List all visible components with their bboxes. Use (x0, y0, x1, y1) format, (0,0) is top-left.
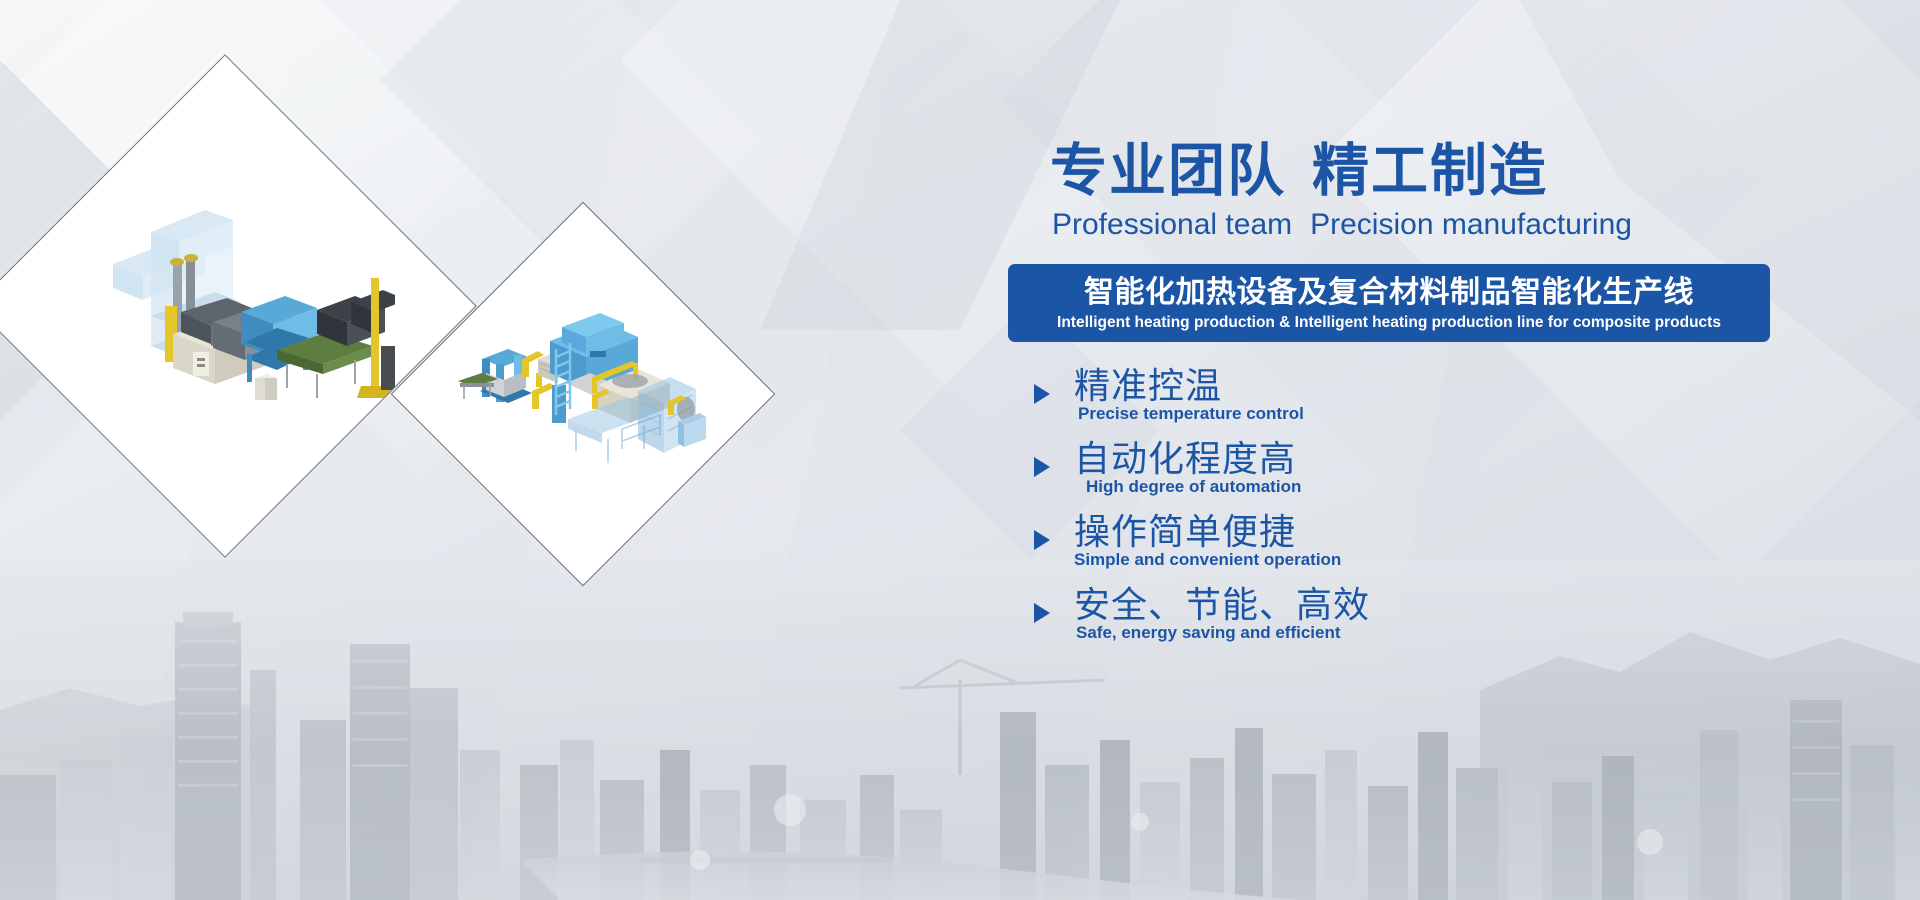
headline-en-part2: Precision manufacturing (1310, 208, 1632, 241)
feature-label-cn: 操作简单便捷 (1074, 511, 1341, 552)
triangle-right-icon (1034, 384, 1050, 404)
list-item: 安全、节能、高效 Safe, energy saving and efficie… (1034, 584, 1674, 657)
triangle-right-icon (1034, 457, 1050, 477)
feature-label-cn: 自动化程度高 (1074, 438, 1301, 479)
feature-label-en: Safe, energy saving and efficient (1076, 624, 1370, 643)
list-item: 自动化程度高 High degree of automation (1034, 438, 1674, 511)
feature-label-cn: 安全、节能、高效 (1074, 584, 1370, 625)
callout-title-cn: 智能化加热设备及复合材料制品智能化生产线 (1008, 274, 1770, 312)
triangle-right-icon (1034, 603, 1050, 623)
feature-label-en: Precise temperature control (1078, 405, 1304, 424)
feature-body: 操作简单便捷 Simple and convenient operation (1074, 511, 1341, 570)
triangle-right-icon (1034, 530, 1050, 550)
feature-body: 精准控温 Precise temperature control (1074, 365, 1304, 424)
feature-body: 自动化程度高 High degree of automation (1074, 438, 1301, 497)
headline-en-part1: Professional team (1052, 208, 1292, 241)
headline-cn-part1: 专业团队 (1050, 139, 1286, 203)
feature-label-en: Simple and convenient operation (1074, 551, 1341, 570)
headline-cn-part2: 精工制造 (1312, 139, 1548, 203)
list-item: 精准控温 Precise temperature control (1034, 365, 1674, 438)
feature-label-en: High degree of automation (1086, 478, 1301, 497)
feature-body: 安全、节能、高效 Safe, energy saving and efficie… (1074, 584, 1370, 643)
callout-title-en: Intelligent heating production & Intelli… (1008, 313, 1770, 333)
page-title: 专业团队精工制造 (1050, 143, 1548, 200)
promo-banner: 专业团队精工制造 Professional teamPrecision manu… (0, 0, 1920, 900)
feature-list: 精准控温 Precise temperature control 自动化程度高 … (1034, 365, 1674, 657)
banner-content: 专业团队精工制造 Professional teamPrecision manu… (1008, 0, 1920, 900)
list-item: 操作简单便捷 Simple and convenient operation (1034, 511, 1674, 584)
page-subtitle: Professional teamPrecision manufacturing (1052, 207, 1632, 243)
feature-label-cn: 精准控温 (1074, 365, 1304, 406)
product-callout-box: 智能化加热设备及复合材料制品智能化生产线 Intelligent heating… (1008, 264, 1770, 342)
